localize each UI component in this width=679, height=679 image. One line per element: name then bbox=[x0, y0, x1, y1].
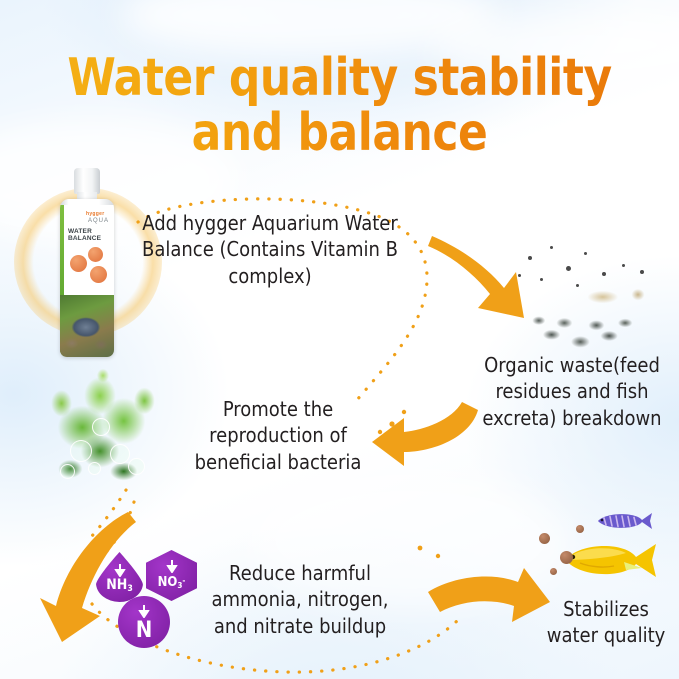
debris-particle bbox=[528, 256, 532, 260]
step-text-waste: Organic waste(feed residues and fish exc… bbox=[468, 352, 676, 431]
organic-waste-image bbox=[510, 238, 670, 356]
step-text-add: Add hygger Aquarium Water Balance (Conta… bbox=[136, 210, 404, 289]
arrow-to-bacteria bbox=[372, 402, 478, 466]
title-line-1: Water quality stability bbox=[67, 48, 611, 108]
debris-particle bbox=[584, 252, 587, 255]
product-volume-label: 500ml bbox=[68, 237, 78, 241]
accent-dot bbox=[418, 546, 423, 551]
down-arrow-icon bbox=[114, 564, 125, 577]
bubble-icon bbox=[60, 464, 75, 479]
debris-particle bbox=[602, 272, 606, 276]
debris-particle bbox=[550, 246, 553, 249]
title-line-2: and balance bbox=[20, 106, 658, 161]
accent-dot bbox=[436, 554, 440, 558]
label-badge-1 bbox=[70, 255, 87, 272]
dotted-trail-2 bbox=[92, 490, 126, 536]
product-line-label: AQUA bbox=[88, 218, 109, 224]
arrow-to-stabilize bbox=[428, 568, 550, 622]
chem-label-no3: NO3- bbox=[146, 575, 197, 590]
debris-particle bbox=[576, 284, 579, 287]
debris-particle bbox=[640, 270, 644, 274]
page-title: Water quality stability and balance bbox=[20, 51, 658, 161]
down-arrow-icon bbox=[166, 560, 177, 573]
brand-logo: hygger bbox=[86, 211, 104, 217]
bubble-icon bbox=[88, 462, 101, 475]
aquatic-plants-image bbox=[26, 358, 174, 484]
food-pellet bbox=[539, 533, 550, 544]
accent-dot bbox=[389, 421, 394, 426]
food-pellet bbox=[550, 568, 557, 575]
label-badge-2 bbox=[88, 247, 103, 262]
bubble-icon bbox=[128, 458, 145, 475]
chem-label-n: N bbox=[118, 618, 170, 643]
step-text-reduce: Reduce harmful ammonia, nitrogen, and ni… bbox=[196, 560, 404, 639]
step-text-stabilize: Stabilizes water quality bbox=[536, 596, 676, 649]
chem-label-nh3: NH3 bbox=[96, 577, 143, 594]
debris-particle bbox=[622, 264, 625, 267]
food-pellet bbox=[560, 551, 573, 564]
food-pellet bbox=[576, 525, 584, 533]
chem-badge-nh3: NH3 bbox=[96, 552, 143, 602]
label-badge-3 bbox=[90, 266, 107, 283]
bubble-icon bbox=[70, 440, 92, 462]
bubble-icon bbox=[92, 418, 110, 436]
bottle-body: hygger AQUA WATER BALANCE 500ml bbox=[60, 199, 114, 357]
infographic-canvas: Water quality stability and balance hygg… bbox=[0, 0, 679, 679]
product-bottle: hygger AQUA WATER BALANCE 500ml bbox=[52, 168, 122, 358]
debris-particle bbox=[518, 274, 521, 277]
purple-striped-fish-image bbox=[592, 510, 654, 532]
accent-dot bbox=[378, 430, 382, 434]
chem-badge-n: N bbox=[118, 596, 170, 648]
label-discus-fish-photo bbox=[60, 295, 114, 357]
chem-subscript: 3 bbox=[127, 584, 132, 594]
chem-formula: NH bbox=[106, 577, 127, 593]
down-arrow-icon bbox=[139, 605, 150, 618]
accent-dot bbox=[402, 410, 406, 414]
debris-particle bbox=[540, 278, 543, 281]
chem-formula: NO bbox=[158, 575, 178, 590]
chem-superscript: - bbox=[182, 576, 185, 585]
bottle-cap bbox=[74, 168, 100, 194]
bubble-icon bbox=[110, 444, 130, 464]
step-text-bacteria: Promote the reproduction of beneficial b… bbox=[180, 396, 376, 475]
chem-formula: N bbox=[136, 618, 153, 643]
chem-badge-no3: NO3- bbox=[146, 550, 197, 601]
debris-particle bbox=[566, 266, 571, 271]
bottle-label: hygger AQUA WATER BALANCE 500ml bbox=[60, 205, 114, 357]
